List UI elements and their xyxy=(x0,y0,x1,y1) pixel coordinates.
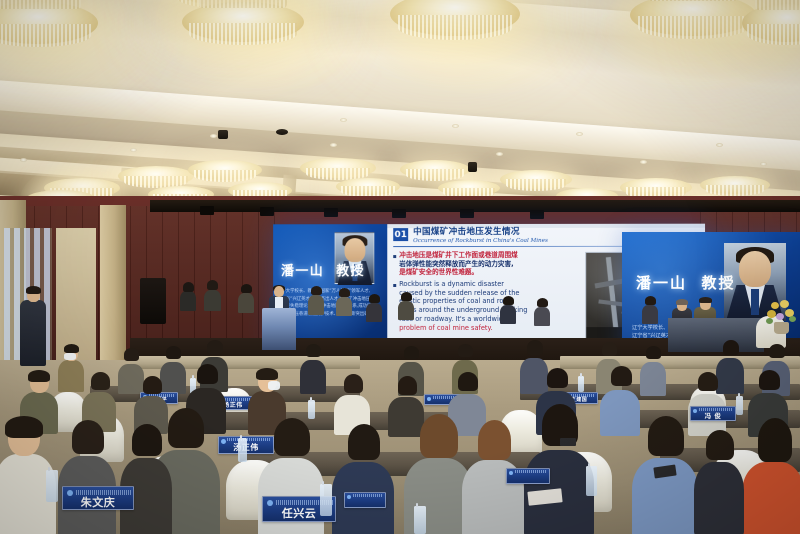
chandelier-small xyxy=(438,180,500,196)
water-bottle xyxy=(46,470,58,502)
nameplate xyxy=(506,468,550,484)
stage-light xyxy=(530,210,544,219)
audience-person xyxy=(204,280,221,310)
stage-light xyxy=(392,209,406,218)
chandelier-large xyxy=(182,2,304,42)
downlight xyxy=(20,158,27,162)
downlight xyxy=(452,124,459,128)
downlight xyxy=(330,143,337,147)
audience-person xyxy=(366,294,382,320)
stage-light xyxy=(460,209,474,218)
slide-section-number: 01 xyxy=(393,228,408,241)
downlight xyxy=(210,134,217,138)
chandelier-small xyxy=(400,160,470,179)
slide-bullet-en: Rockburst is a dynamic disaster caused b… xyxy=(393,280,579,333)
conference-hall-photo: Occurrence of Rockburst in China's Coal … xyxy=(0,0,800,534)
audience-person xyxy=(300,344,326,392)
audience-person xyxy=(742,418,800,534)
nameplate-name: 任兴云 xyxy=(282,505,317,521)
slide-body: 冲击地压是煤矿井下工作面或巷道周围煤 岩体弹性能突然释放而产生的动力灾害, 是煤… xyxy=(393,251,579,336)
nameplate-name: 汤正伟 xyxy=(223,400,243,409)
downlight xyxy=(760,162,767,166)
stage-light xyxy=(324,208,338,217)
water-bottle xyxy=(238,438,247,462)
slide-bullet-cn: 冲击地压是煤矿井下工作面或巷道周围煤 岩体弹性能突然释放而产生的动力灾害, 是煤… xyxy=(393,251,579,277)
pa-speaker-left xyxy=(140,278,166,324)
audience-person xyxy=(180,282,196,310)
chandelier-small xyxy=(118,166,194,186)
audience-person xyxy=(58,344,84,390)
ceiling-projector xyxy=(218,130,228,139)
chandelier-small xyxy=(700,176,770,194)
chandelier-small xyxy=(620,178,692,197)
slide-header: 01 中国煤矿冲击地压发生情况 Occurrence of Rockburst … xyxy=(393,228,548,245)
audience-person xyxy=(398,292,414,318)
speaker-name-large: 潘一山 教授 xyxy=(636,272,735,293)
audience-person xyxy=(58,420,116,534)
nameplate: 朱文庆 xyxy=(62,486,134,510)
audience-person xyxy=(120,424,172,534)
chandelier-small xyxy=(188,160,262,180)
audience-person xyxy=(308,286,324,314)
nameplate-name: 冯 俊 xyxy=(705,410,722,420)
audience-person xyxy=(642,296,658,322)
audience-person xyxy=(336,288,352,314)
downlight xyxy=(496,152,503,156)
water-bottle xyxy=(308,400,315,419)
water-bottle xyxy=(414,506,426,534)
water-bottle xyxy=(578,376,584,392)
downlight xyxy=(340,118,347,122)
chandelier-small xyxy=(300,158,376,178)
audience-person xyxy=(694,430,744,534)
chandelier-large xyxy=(390,0,520,36)
floral-arrangement xyxy=(765,300,799,334)
ceiling xyxy=(0,0,800,222)
stage-light xyxy=(200,206,214,215)
speaker-podium xyxy=(262,308,296,350)
downlight xyxy=(640,160,647,164)
audience-person xyxy=(534,298,550,324)
slide-title-cn: 中国煤矿冲击地压发生情况 xyxy=(413,228,548,237)
audience-person xyxy=(640,346,666,394)
water-bottle xyxy=(736,396,743,415)
downlight xyxy=(716,143,723,147)
chandelier-small xyxy=(500,170,572,189)
chandelier-small xyxy=(336,178,400,195)
bullet-marker xyxy=(393,255,396,258)
chandelier-large xyxy=(0,2,98,44)
chandelier-large xyxy=(630,0,756,36)
ceiling-speaker xyxy=(276,129,288,135)
bullet-marker xyxy=(393,284,396,287)
mobile-phone xyxy=(560,438,576,446)
water-bottle xyxy=(586,466,597,496)
stage-light xyxy=(260,207,274,216)
downlight xyxy=(576,132,583,136)
ceiling-speaker xyxy=(468,162,477,172)
audience-person xyxy=(238,284,254,312)
stage-light-bar xyxy=(150,200,800,212)
audience-person xyxy=(332,424,394,534)
audience-person xyxy=(500,296,516,322)
downlight xyxy=(130,148,137,152)
nameplate-name: 朱文庆 xyxy=(81,494,116,510)
slide-title-en: Occurrence of Rockburst in China's Coal … xyxy=(413,238,548,245)
water-bottle xyxy=(320,484,332,516)
speaker-name: 潘一山 教授 xyxy=(281,260,365,279)
nameplate xyxy=(344,492,386,508)
standing-attendee xyxy=(20,286,46,366)
